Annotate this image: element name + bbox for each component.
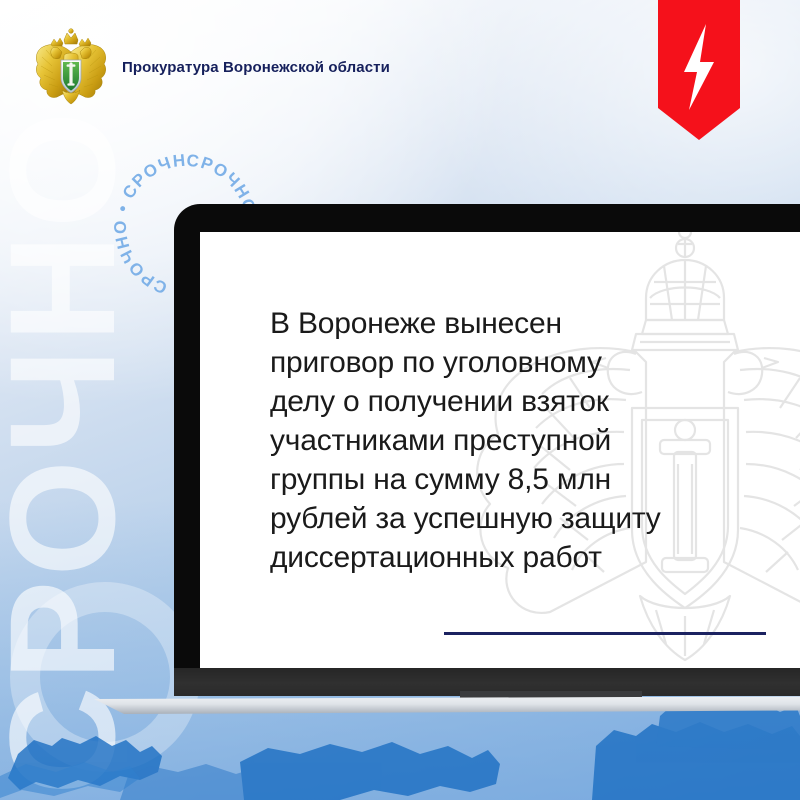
header: Прокуратура Воронежской области (34, 28, 390, 106)
urgent-ribbon (658, 0, 740, 140)
laptop-base (94, 696, 800, 716)
laptop-screen: В Воронеже вынесен приговор по уголовном… (200, 232, 800, 668)
header-organization-title: Прокуратура Воронежской области (122, 59, 390, 76)
laptop-hinge-notch (460, 691, 642, 707)
urgent-news-poster: СРОЧНО (0, 0, 800, 800)
laptop-mockup: В Воронеже вынесен приговор по уголовном… (174, 204, 800, 704)
vertical-watermark-srochno: СРОЧНО (0, 0, 137, 795)
russian-prosecutor-eagle-emblem-icon (34, 28, 108, 106)
headline-underline-rule (444, 632, 766, 635)
screen-headline: В Воронеже вынесен приговор по уголовном… (270, 304, 790, 577)
background-ring-decoration (10, 582, 200, 772)
